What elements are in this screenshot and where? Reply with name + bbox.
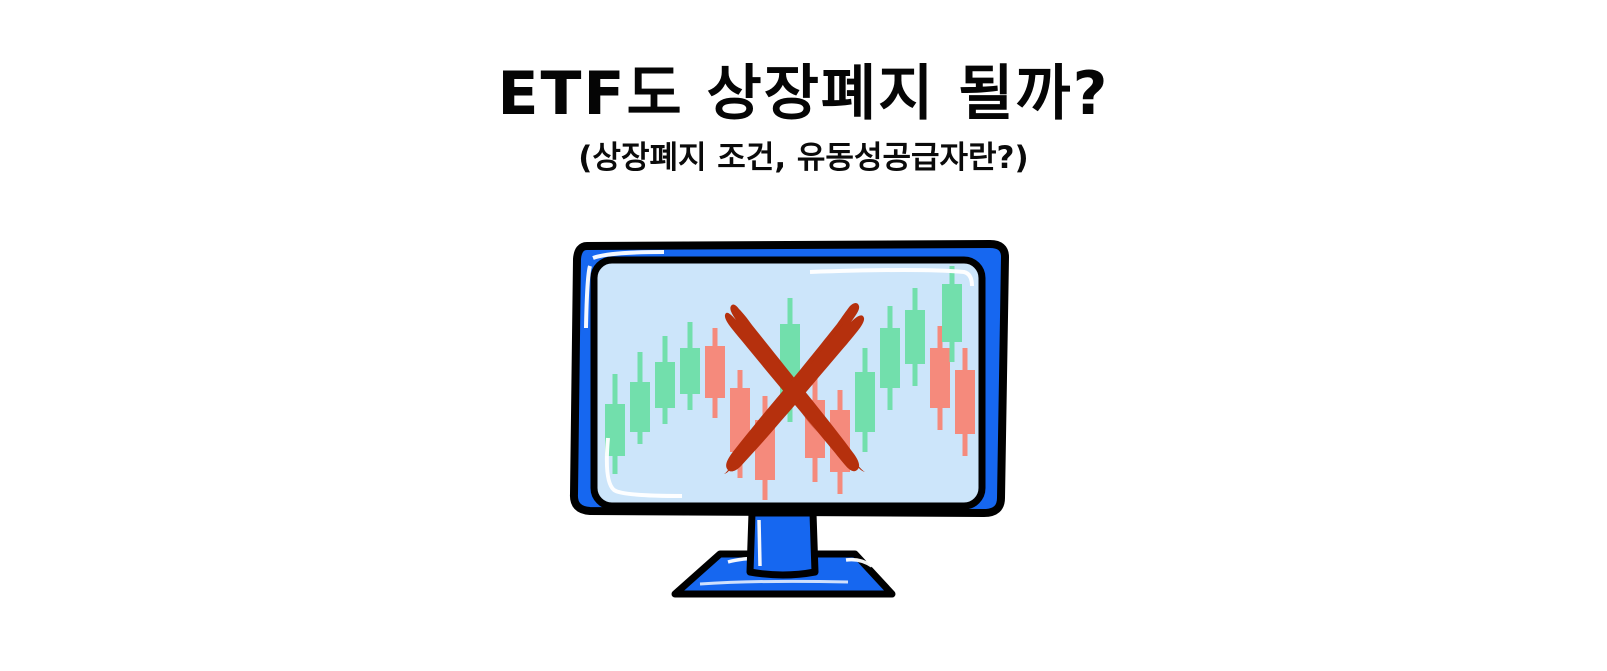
monitor-illustration [560,232,1030,612]
page-subtitle: (상장폐지 조건, 유동성공급자란?) [0,141,1607,175]
page-title: ETF도 상장폐지 될까? [0,62,1607,127]
page-root: ETF도 상장폐지 될까? (상장폐지 조건, 유동성공급자란?) [0,0,1607,671]
heading-block: ETF도 상장폐지 될까? (상장폐지 조건, 유동성공급자란?) [0,62,1607,175]
monitor-stand-neck [750,513,815,575]
